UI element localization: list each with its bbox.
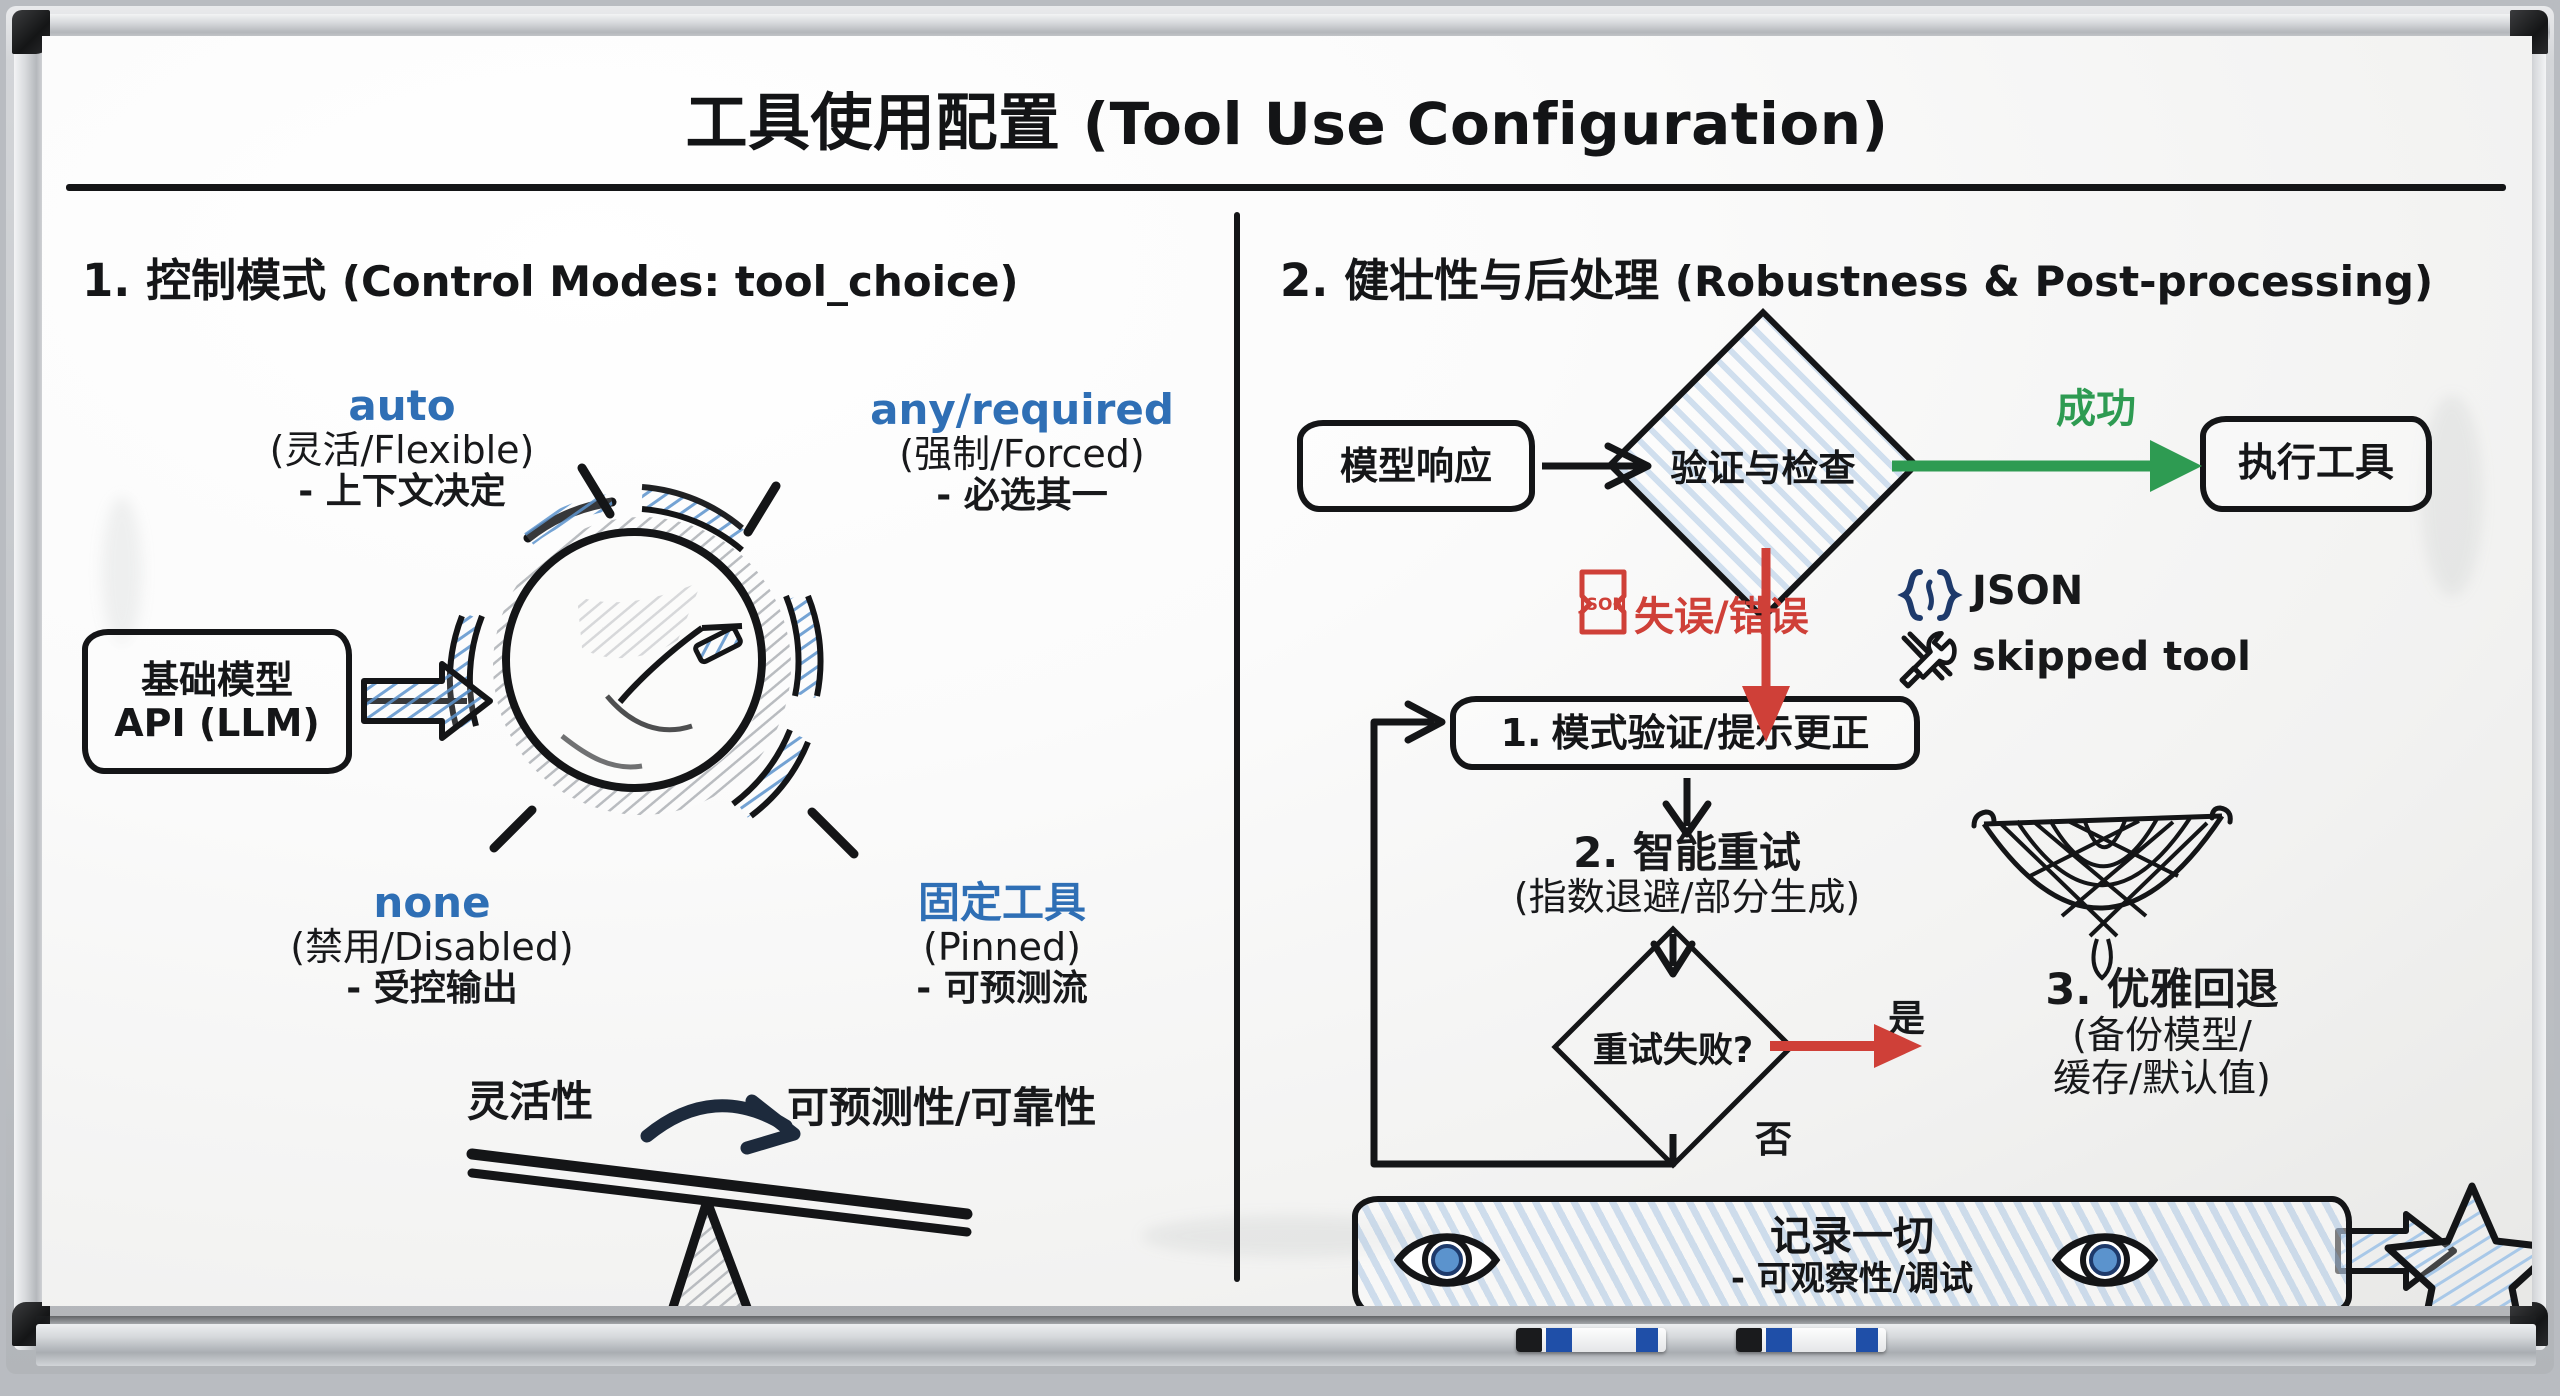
mode-bullet-none: - 受控输出: [290, 969, 574, 1009]
execute-tool-box: 执行工具: [2200, 416, 2432, 512]
dial-tick: [812, 812, 854, 854]
marker-tray: [36, 1324, 2536, 1366]
mode-label-pinned: 固定工具 (Pinned) - 可预测流: [916, 879, 1087, 1009]
section-title-en: (Control Modes: tool_choice): [342, 257, 1019, 306]
board-surface: 工具使用配置 (Tool Use Configuration) 1. 控制模式 …: [42, 36, 2532, 1306]
section-title-cn: 健壮性与后处理: [1344, 254, 1659, 307]
mode-label-auto: auto (灵活/Flexible) - 上下文决定: [270, 382, 535, 512]
dial-tick: [582, 468, 610, 514]
step-2-sub: (指数退避/部分生成): [1514, 876, 1860, 919]
marker-blue[interactable]: [1736, 1328, 1886, 1352]
marker-cap: [1736, 1328, 1762, 1352]
page-title-en: (Tool Use Configuration): [1083, 90, 1889, 158]
braces-icon: [1894, 566, 1966, 624]
base-model-box: 基础模型 API (LLM): [82, 629, 352, 774]
mode-key-any-required: any/required: [870, 386, 1174, 433]
mode-label-any-required: any/required (强制/Forced) - 必选其一: [870, 386, 1174, 516]
mode-sub-auto: (灵活/Flexible): [270, 429, 535, 472]
step-2-number: 2.: [1573, 828, 1618, 877]
page-title-cn: 工具使用配置: [685, 86, 1060, 159]
arrow-to-outcome-star: [2338, 1214, 2454, 1288]
tradeoff-seesaw: [472, 1154, 967, 1306]
error-label: 失误/错误: [1634, 584, 1809, 642]
model-response-box: 模型响应: [1297, 420, 1535, 512]
fallback-sub-2: 缓存/默认值): [2045, 1057, 2278, 1100]
seesaw-left-text: 灵活性: [467, 1078, 593, 1125]
json-error-icon: JSON: [1572, 566, 1634, 638]
seesaw-label-predictability: 可预测性/可靠性: [787, 1084, 1096, 1131]
fallback-sub-1: (备份模型/: [2045, 1014, 2278, 1057]
marker-band: [1546, 1328, 1572, 1352]
mode-sub-pinned: (Pinned): [916, 926, 1087, 969]
section-number: 2.: [1280, 254, 1328, 307]
section-title-en: (Robustness & Post-processing): [1675, 257, 2433, 306]
decision-no-label: 否: [1755, 1109, 1792, 1163]
section-heading-control-modes: 1. 控制模式 (Control Modes: tool_choice): [82, 244, 1019, 309]
panel-divider: [1234, 212, 1240, 1282]
mode-sub-none: (禁用/Disabled): [290, 926, 574, 969]
base-model-line2: API (LLM): [114, 702, 320, 745]
log-everything-sub: - 可观察性/调试: [1731, 1260, 1973, 1298]
fallback-number: 3.: [2045, 965, 2091, 1015]
marker-black[interactable]: [1516, 1328, 1666, 1352]
eye-icon: [1392, 1221, 1502, 1299]
success-label: 成功: [2056, 376, 2136, 434]
step-1-box: 1. 模式验证/提示更正: [1450, 696, 1920, 770]
execute-tool-label: 执行工具: [2238, 442, 2394, 486]
model-response-label: 模型响应: [1340, 445, 1492, 488]
dial-tick: [748, 486, 776, 532]
tradeoff-arrow: [647, 1101, 794, 1148]
step-1-number: 1.: [1501, 712, 1542, 755]
decision-yes-label: 是: [1888, 988, 1925, 1042]
dial-pointer: [694, 627, 741, 663]
step-2-label: 2. 智能重试 (指数退避/部分生成): [1514, 829, 1860, 919]
fallback-label: 3. 优雅回退 (备份模型/ 缓存/默认值): [2045, 966, 2278, 1099]
log-everything-bar: 记录一切 - 可观察性/调试: [1352, 1196, 2352, 1306]
page-title: 工具使用配置 (Tool Use Configuration): [42, 72, 2532, 162]
section-number: 1.: [82, 254, 130, 307]
retry-failed-label: 重试失败?: [1587, 961, 1759, 1133]
svg-text:JSON: JSON: [1578, 595, 1626, 615]
fallback-title: 优雅回退: [2107, 965, 2279, 1015]
mode-bullet-any-required: - 必选其一: [870, 476, 1174, 516]
base-model-line1: 基础模型: [141, 659, 293, 702]
base-model-to-dial-arrow: [364, 664, 490, 738]
mode-bullet-pinned: - 可预测流: [916, 969, 1087, 1009]
json-note-text: JSON: [1972, 568, 2083, 614]
marker-band-2: [1856, 1328, 1878, 1352]
validate-check-diamond: 验证与检查: [1652, 354, 1874, 576]
arrow-step1-to-step2: [1666, 778, 1708, 834]
skipped-tool-note-text: skipped tool: [1972, 634, 2251, 680]
step-2-title: 智能重试: [1633, 828, 1801, 877]
title-divider: [66, 184, 2506, 191]
log-everything-title: 记录一切: [1770, 1214, 1934, 1260]
whiteboard-frame: 工具使用配置 (Tool Use Configuration) 1. 控制模式 …: [6, 6, 2554, 1374]
mode-key-auto: auto: [270, 382, 535, 429]
whiteboard-screenshot: 工具使用配置 (Tool Use Configuration) 1. 控制模式 …: [0, 0, 2560, 1396]
marker-cap: [1516, 1328, 1542, 1352]
mode-bullet-auto: - 上下文决定: [270, 472, 535, 512]
section-heading-robustness: 2. 健壮性与后处理 (Robustness & Post-processing…: [1280, 244, 2433, 309]
tool-choice-dial: [450, 468, 854, 854]
tools-icon: [1896, 628, 1966, 690]
marker-band: [1766, 1328, 1792, 1352]
arrow-check-to-execute-success: [1892, 440, 2202, 492]
mode-key-none: none: [290, 879, 574, 926]
step-1-label: 模式验证/提示更正: [1552, 712, 1870, 755]
star-icon: [2388, 1186, 2532, 1306]
eye-icon: [2050, 1221, 2160, 1299]
mode-key-pinned: 固定工具: [916, 879, 1087, 926]
frame-rail-left: [14, 20, 42, 1350]
safety-net-icon: [1974, 808, 2230, 978]
seesaw-right-text: 可预测性/可靠性: [787, 1084, 1096, 1131]
dial-segment-1: [528, 502, 612, 538]
seesaw-label-flexibility: 灵活性: [467, 1078, 593, 1125]
dial-segment-2: [642, 487, 742, 528]
board-smudge: [102, 496, 142, 646]
section-title-cn: 控制模式: [146, 254, 326, 307]
validate-check-label: 验证与检查: [1652, 354, 1874, 576]
mode-label-none: none (禁用/Disabled) - 受控输出: [290, 879, 574, 1009]
marker-band-2: [1636, 1328, 1658, 1352]
dial-tick: [494, 810, 532, 848]
retry-failed-diamond: 重试失败?: [1587, 961, 1759, 1133]
mode-sub-any-required: (强制/Forced): [870, 433, 1174, 476]
